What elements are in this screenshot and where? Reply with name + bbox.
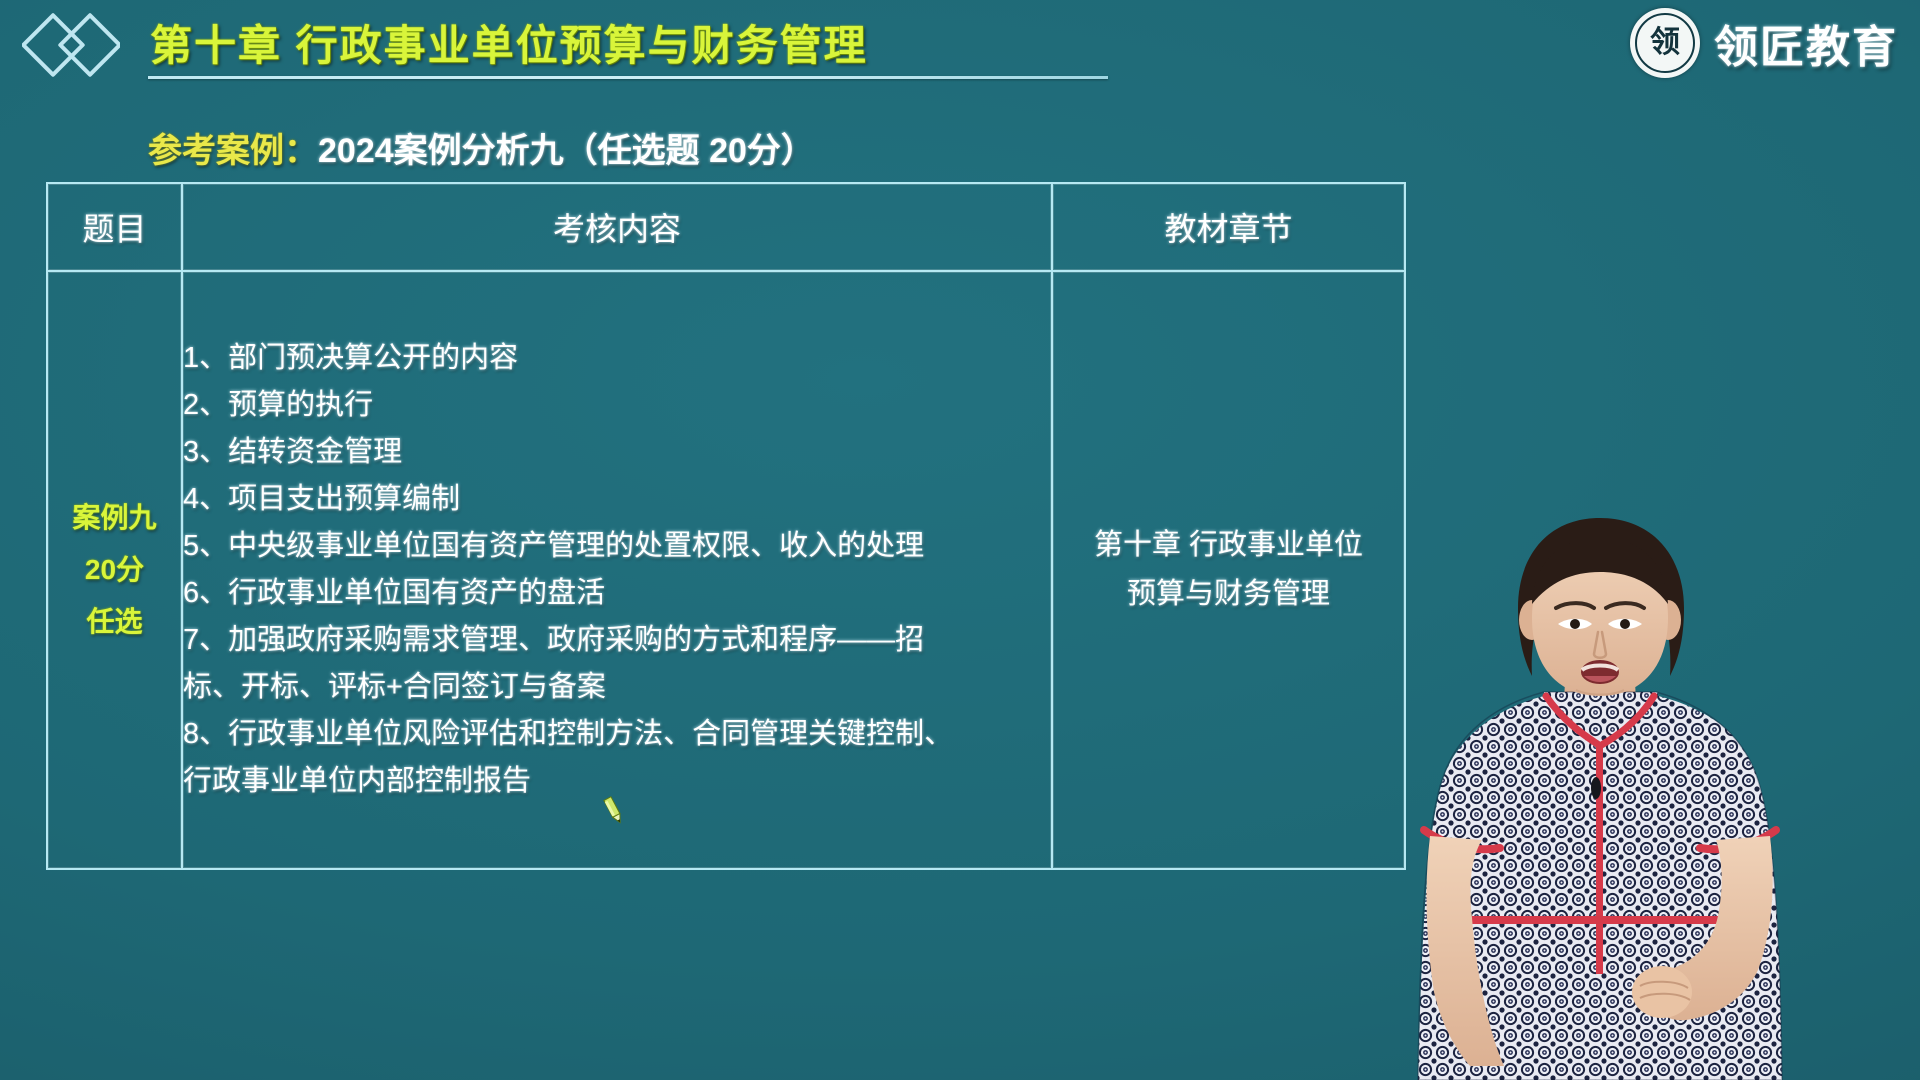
list-item: 7、加强政府采购需求管理、政府采购的方式和程序——招 <box>183 617 1051 664</box>
list-item: 1、部门预决算公开的内容 <box>183 335 1051 382</box>
reference-case-subtitle: 参考案例：2024案例分析九（任选题 20分） <box>148 123 815 172</box>
chapter-line-1: 第十章 行政事业单位 <box>1053 521 1404 570</box>
title-underline-divider <box>148 76 1108 79</box>
slide-header: 第十章 行政事业单位预算与财务管理 领 领匠教育 <box>0 0 1920 95</box>
column-header-content: 考核内容 <box>182 183 1052 271</box>
double-diamond-icon <box>22 8 120 84</box>
brand-name-label: 领匠教育 <box>1714 11 1898 75</box>
list-item: 2、预算的执行 <box>183 382 1051 429</box>
table-header-row: 题目 考核内容 教材章节 <box>47 183 1405 271</box>
table-row: 案例九 20分 任选 1、部门预决算公开的内容 2、预算的执行 3、结转资金管理… <box>47 271 1405 869</box>
case-points: 20分 <box>48 544 181 596</box>
brand-logo: 领 领匠教育 <box>1630 8 1898 78</box>
list-item-continuation: 行政事业单位内部控制报告 <box>183 758 1051 805</box>
subtitle-label: 参考案例： <box>148 132 318 170</box>
chapter-line-2: 预算与财务管理 <box>1053 570 1404 619</box>
presenter-video-overlay <box>1400 500 1800 1080</box>
list-item: 8、行政事业单位风险评估和控制方法、合同管理关键控制、 <box>183 711 1051 758</box>
list-item-continuation: 标、开标、评标+合同签订与备案 <box>183 664 1051 711</box>
list-item: 4、项目支出预算编制 <box>183 476 1051 523</box>
case-optional: 任选 <box>48 596 181 648</box>
brand-seal-icon: 领 <box>1630 8 1700 78</box>
page-title: 第十章 行政事业单位预算与财务管理 <box>150 12 868 73</box>
column-header-chapter: 教材章节 <box>1052 183 1405 271</box>
brand-seal-char: 领 <box>1650 28 1680 58</box>
exam-outline-table: 题目 考核内容 教材章节 案例九 20分 任选 1、部门预决算公开的内容 2、预… <box>46 182 1406 870</box>
subtitle-value: 2024案例分析九（任选题 20分） <box>318 132 815 170</box>
list-item: 3、结转资金管理 <box>183 429 1051 476</box>
column-header-question: 题目 <box>47 183 182 271</box>
case-name: 案例九 <box>48 492 181 544</box>
textbook-chapter-cell: 第十章 行政事业单位 预算与财务管理 <box>1052 271 1405 869</box>
case-identifier-cell: 案例九 20分 任选 <box>47 271 182 869</box>
list-item: 6、行政事业单位国有资产的盘活 <box>183 570 1051 617</box>
exam-content-cell: 1、部门预决算公开的内容 2、预算的执行 3、结转资金管理 4、项目支出预算编制… <box>182 271 1052 869</box>
lecture-slide: 第十章 行政事业单位预算与财务管理 领 领匠教育 参考案例：2024案例分析九（… <box>0 0 1920 1080</box>
list-item: 5、中央级事业单位国有资产管理的处置权限、收入的处理 <box>183 523 1051 570</box>
